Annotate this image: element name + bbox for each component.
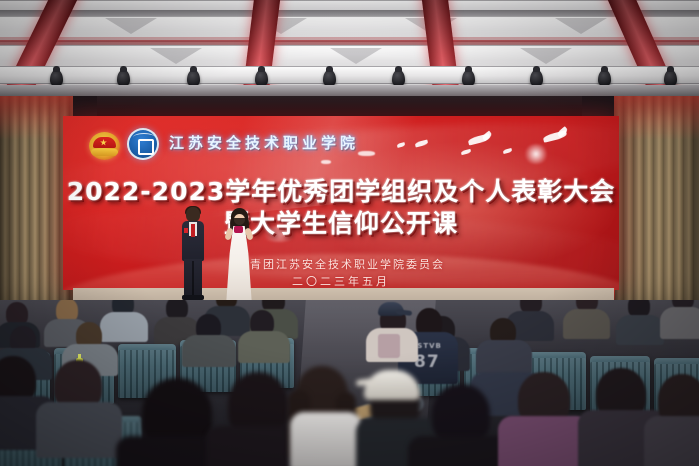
ceiling-light-bar [0, 66, 699, 84]
led-backdrop-screen: 江苏安全技术职业学院 2022-2023学年优秀团学组织及个人表彰大会 暨大学生… [63, 116, 619, 290]
ceiling [0, 0, 699, 100]
event-date-text: 二〇二三年五月 [63, 273, 619, 289]
college-name-text: 江苏安全技术职业学院 [169, 132, 359, 153]
stage-proscenium-top [73, 96, 614, 118]
communist-youth-league-emblem-icon [89, 132, 120, 160]
event-title-line-1: 2022-2023学年优秀团学组织及个人表彰大会 [63, 172, 619, 208]
female-host-figure [224, 210, 254, 302]
event-title-line-2: 暨大学生信仰公开课 [63, 204, 619, 240]
auditorium-photo: 江苏安全技术职业学院 2022-2023学年优秀团学组织及个人表彰大会 暨大学生… [0, 0, 699, 466]
male-host-figure [180, 207, 206, 299]
organizer-text: 共青团江苏安全技术职业学院委员会 [63, 256, 619, 272]
audience-area: JUSTVB 87 [0, 300, 699, 466]
microphone-icon [234, 226, 243, 233]
navy-baseball-cap [378, 302, 404, 316]
college-crest-emblem-icon [127, 128, 159, 160]
